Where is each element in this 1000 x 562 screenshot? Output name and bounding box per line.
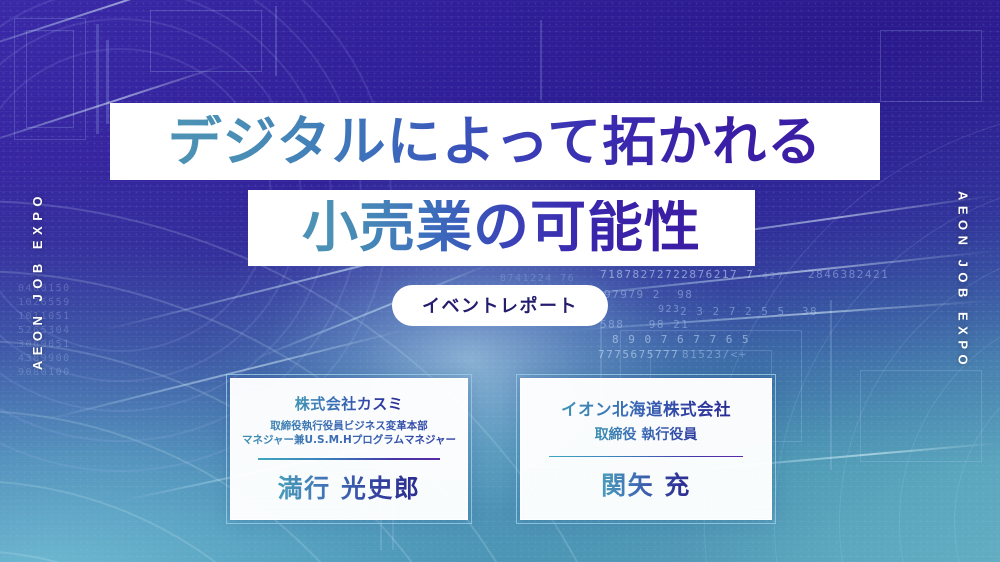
speaker-role: 取締役 執行役員	[595, 426, 698, 445]
title-line-1-box: デジタルによって拓かれる	[110, 103, 880, 180]
speaker-name: 関矢 充	[601, 466, 691, 502]
speaker-card-divider	[258, 458, 440, 459]
side-label-left: AEON JOB EXPO	[14, 0, 60, 562]
speaker-name: 満行 光史郎	[278, 469, 421, 505]
background-digit-overlay: 71878272722876217 7 2846382421 97979 2 9…	[0, 0, 1000, 562]
digit-block: 8 9 0 7 6 7 7 6 5	[612, 333, 750, 348]
digit-block: 81523/<+	[682, 348, 747, 363]
speaker-role-line-2: マネジャー兼U.S.M.Hプログラムマネジャー	[242, 433, 456, 447]
speaker-role-line-1: 取締役執行役員ビジネス変革本部	[242, 419, 456, 433]
digit-block: 2 3 2 7 2 5 5 38	[680, 305, 818, 320]
digit-block: 2846382421	[808, 268, 889, 283]
event-banner: 71878272722876217 7 2846382421 97979 2 9…	[0, 0, 1000, 562]
speaker-card: 株式会社カスミ 取締役執行役員ビジネス変革本部 マネジャー兼U.S.M.Hプログ…	[230, 378, 468, 520]
digit-block: 8741224 76	[500, 272, 575, 286]
speaker-card-divider	[549, 456, 743, 457]
event-report-badge: イベントレポート	[392, 285, 608, 326]
page-title-line-1: デジタルによって拓かれる	[168, 115, 823, 169]
page-title-line-2: 小売業の可能性	[302, 200, 701, 256]
speaker-role: 取締役執行役員ビジネス変革本部 マネジャー兼U.S.M.Hプログラムマネジャー	[242, 419, 456, 447]
speaker-card: イオン北海道株式会社 取締役 執行役員 関矢 充	[520, 378, 772, 520]
speaker-company: 株式会社カスミ	[295, 393, 404, 414]
digit-block: 427	[762, 270, 785, 284]
side-label-left-text: AEON JOB EXPO	[30, 191, 45, 370]
speaker-role-line-1: 取締役 執行役員	[595, 426, 698, 445]
title-line-2-box: 小売業の可能性	[248, 190, 755, 266]
side-label-right: AEON JOB EXPO	[940, 0, 986, 562]
side-label-right-text: AEON JOB EXPO	[956, 191, 971, 370]
digit-block: 97979 2 98	[604, 288, 693, 303]
digit-block: 588 98 21	[600, 318, 689, 333]
digit-block: 7775675777	[598, 348, 679, 363]
digit-block: 923	[658, 303, 681, 317]
speaker-company: イオン北海道株式会社	[561, 396, 731, 420]
digit-block: 71878272722876217 7	[600, 268, 754, 283]
